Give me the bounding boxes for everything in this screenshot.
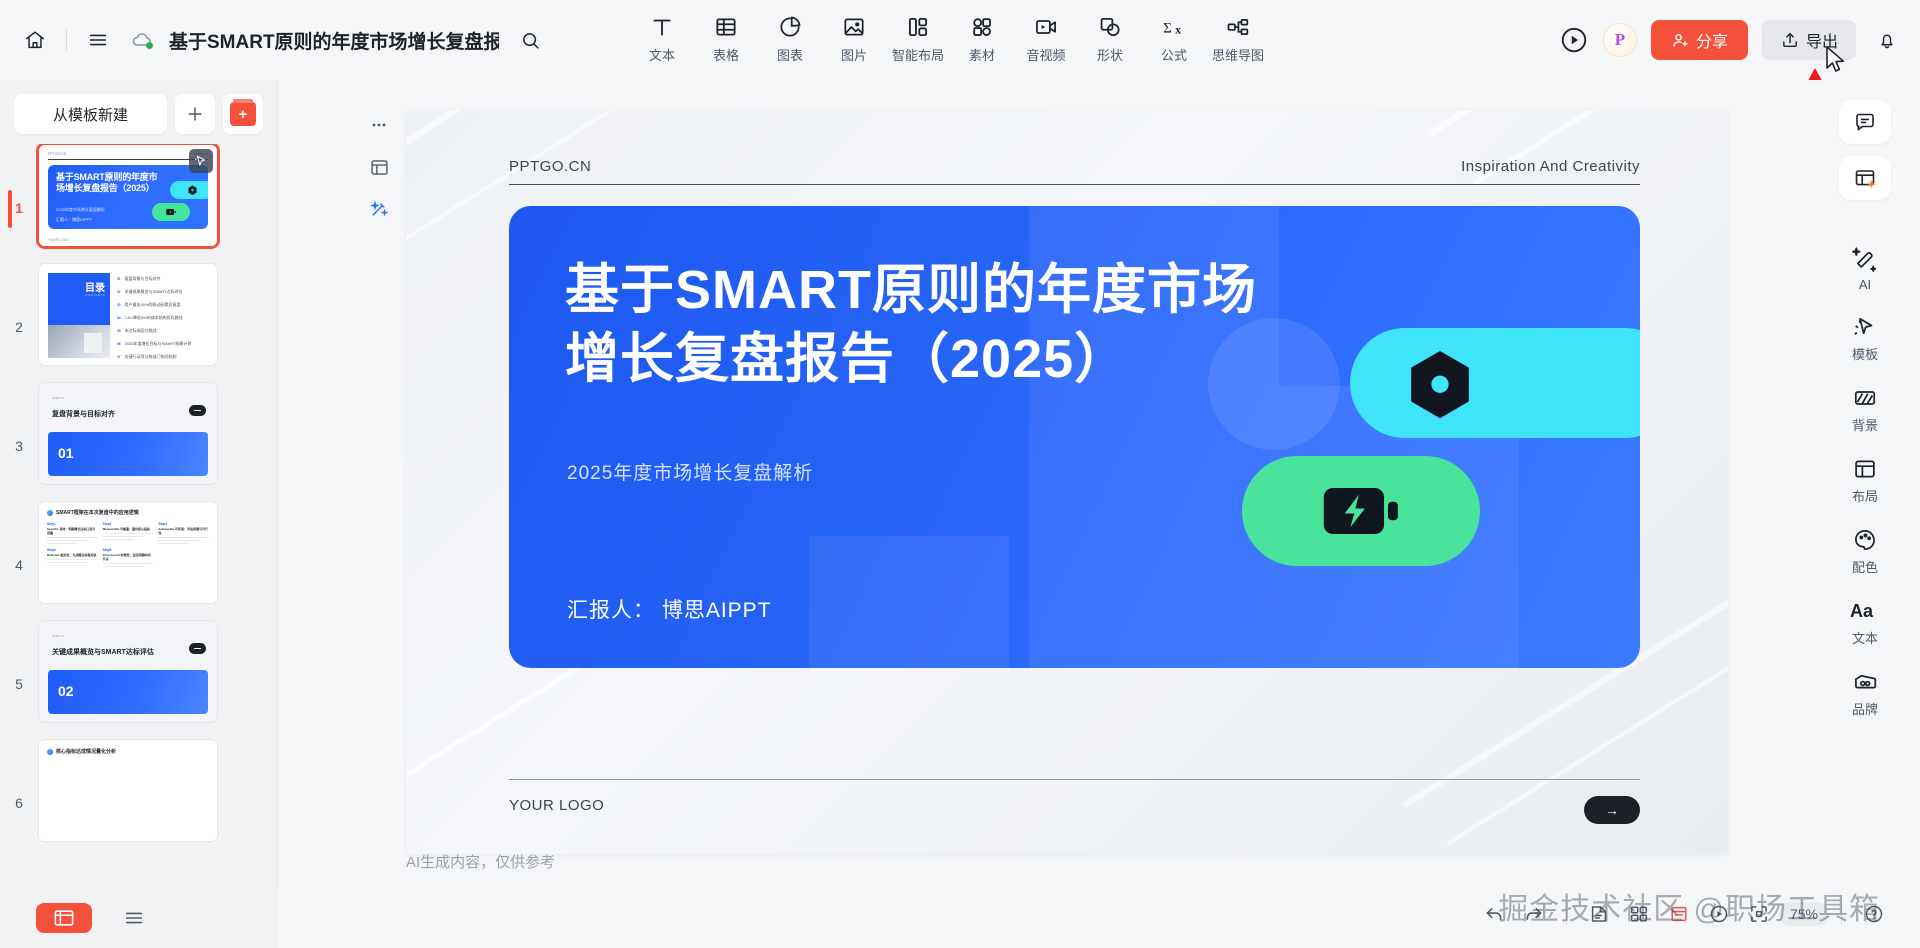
thumb-heading: SMART框架在本次复盘中的应用逻辑 [47, 509, 209, 516]
slide-thumbnail-2[interactable]: 目录 CONTENTS 01复盘背景与目标对齐 02关键成果概览与SMART达标… [38, 263, 218, 366]
entry-no: 06 [117, 342, 121, 346]
thumb-eyebrow: PART 02 [52, 634, 64, 638]
list-item: Step2Measurable 可衡量：量化核心指标 [103, 522, 154, 544]
top-bar: 基于SMART原则的年度市场增长复盘报告（... 文本 表格 图表 图片 [0, 0, 1920, 80]
list-item[interactable]: 1 PPTGO.CN Inspiration 基于SMART原则的年度市场增长复… [0, 144, 278, 263]
palette-icon [1852, 527, 1878, 553]
entry-no: 03 [117, 303, 121, 307]
rail-item-palette[interactable]: 配色 [1828, 518, 1902, 585]
slide-thumbnail-list[interactable]: 1 PPTGO.CN Inspiration 基于SMART原则的年度市场增长复… [0, 144, 278, 844]
list-item: Step4Relevant 相关性：与战略目标强关联 [47, 548, 98, 567]
list-item[interactable]: 6 核心指标达成情况量化分析 [0, 739, 278, 844]
new-from-template-button[interactable]: 从模板新建 [14, 94, 167, 134]
plus-icon [185, 104, 205, 124]
list-item: 05未达标成因与挑战 [117, 328, 209, 334]
hexagon-icon [188, 185, 197, 195]
slide-presenter[interactable]: 汇报人： 博思AIPPT [567, 594, 772, 624]
cell-step: Step1 [47, 522, 98, 526]
cloud-sync-icon [129, 27, 155, 53]
slide-footer-logo: YOUR LOGO [509, 797, 604, 814]
thumb-title: 基于SMART原则的年度市场增长复盘报告（2025） [56, 172, 161, 195]
thumb-toc-entries: 01复盘背景与目标对齐 02关键成果概览与SMART达标评估 03用户量化40%… [117, 276, 209, 366]
bullet-dot-icon [47, 510, 53, 516]
smart-layout-icon [905, 14, 931, 40]
mindmap-icon [1225, 14, 1251, 40]
background-icon [1852, 385, 1878, 411]
entry-no: 02 [117, 290, 121, 294]
cell-step: Step4 [47, 548, 98, 552]
thumb-heading: 核心指标达成情况量化分析 [47, 748, 209, 755]
ai-assistant-badge[interactable]: P [1603, 23, 1637, 57]
help-icon[interactable] [1854, 896, 1894, 932]
slide-number: 5 [0, 620, 38, 692]
slide-thumbnail-1[interactable]: PPTGO.CN Inspiration 基于SMART原则的年度市场增长复盘报… [38, 144, 218, 247]
slide-thumbnail-5[interactable]: PART 02 关键成果概览与SMART达标评估 02 [38, 620, 218, 723]
slide-number: 3 [0, 382, 38, 454]
divider [1841, 903, 1842, 925]
share-button-label: 分享 [1696, 28, 1728, 52]
sidebar-header: 从模板新建 + [0, 80, 277, 144]
thumb-title: 关键成果概览与SMART达标评估 [52, 647, 154, 657]
slide-canvas[interactable]: PPTGO.CN Inspiration And Creativity 基于SM… [406, 110, 1728, 854]
rail-item-background[interactable]: 背景 [1828, 376, 1902, 443]
sync-status-dot [146, 42, 153, 49]
thumb-section-render: PART 02 关键成果概览与SMART达标评估 02 [39, 621, 217, 722]
table-icon [713, 14, 739, 40]
tool-text[interactable]: 文本 [630, 8, 694, 68]
hexagon-icon [1408, 347, 1472, 419]
material-grid-icon [969, 14, 995, 40]
document-title[interactable]: 基于SMART原则的年度市场增长复盘报告（... [169, 27, 499, 54]
entry-text: 2026年度增长目标与SMART拆解计划 [125, 341, 192, 347]
ai-badge-label: P [1615, 30, 1625, 50]
rail-item-layout[interactable]: 布局 [1828, 447, 1902, 514]
entry-text: 用户量化40%的驱动因素及复盘 [125, 302, 181, 308]
pie-chart-icon [777, 14, 803, 40]
rail-item-background-label: 背景 [1852, 415, 1878, 434]
thumb-section-render: PART 01 复盘背景与目标对齐 01 [39, 383, 217, 484]
image-icon [841, 14, 867, 40]
rail-item-ai[interactable]: AI [1828, 238, 1902, 301]
bottom-bar: 75% [278, 880, 1920, 948]
fit-screen-icon[interactable] [1739, 896, 1779, 932]
entry-text: 未达标成因与挑战 [125, 328, 157, 334]
canvas-float-tools [366, 112, 392, 222]
share-button[interactable]: 分享 [1651, 20, 1748, 60]
sidebar-view-tabs [0, 888, 278, 948]
brand-icon [1852, 669, 1878, 695]
hexagon-pill [1350, 328, 1640, 438]
slides-sidebar: 从模板新建 + 1 PPTGO.CN Inspiration [0, 80, 278, 948]
list-item: Step1Specific 具体：明确增长目标口径与范围 [47, 522, 98, 544]
play-presentation-icon[interactable] [1559, 25, 1589, 55]
cell-text: Time-bound 时限性：设定明确时间节点 [103, 553, 154, 561]
hamburger-menu-icon[interactable] [81, 23, 115, 57]
more-dots-icon[interactable] [366, 112, 392, 138]
list-item: 062026年度增长目标与SMART拆解计划 [117, 341, 209, 347]
thumb-smart-grid: Step1Specific 具体：明确增长目标口径与范围 Step2Measur… [47, 522, 209, 567]
cell-step: Step3 [158, 522, 209, 526]
text-aa-icon: Aa [1850, 598, 1880, 624]
thumb-header-left: PPTGO.CN [48, 152, 66, 156]
rail-item-text-label: 文本 [1852, 628, 1878, 647]
formula-sigma-icon: Σx [1161, 14, 1187, 40]
svg-text:Σ: Σ [1163, 19, 1172, 36]
notes-icon[interactable] [1579, 896, 1619, 932]
slide-header-right: Inspiration And Creativity [1461, 158, 1640, 175]
comment-bubble-icon[interactable] [1839, 100, 1891, 144]
app-root: 基于SMART原则的年度市场增长复盘报告（... 文本 表格 图表 图片 [0, 0, 1920, 948]
list-item: 02关键成果概览与SMART达标评估 [117, 289, 209, 295]
list-item[interactable]: 2 目录 CONTENTS 01复盘背景与目标对齐 02关键成果概览与SMART… [0, 263, 278, 382]
animation-cursor-icon [194, 154, 208, 168]
thumb-section-number: 01 [58, 445, 74, 461]
slide-header-left: PPTGO.CN [509, 158, 591, 175]
list-item: Step5Time-bound 时限性：设定明确时间节点 [103, 548, 154, 567]
outline-list-view-icon[interactable] [106, 903, 162, 933]
list-item[interactable]: 5 PART 02 关键成果概览与SMART达标评估 02 [0, 620, 278, 739]
slide-thumbnail-4[interactable]: SMART框架在本次复盘中的应用逻辑 Step1Specific 具体：明确增长… [38, 501, 218, 604]
tool-text-label: 文本 [649, 45, 675, 64]
slide-thumbnail-view-icon[interactable] [36, 903, 92, 933]
thumb-title: 核心指标达成情况量化分析 [56, 748, 116, 755]
export-button[interactable]: 导出 [1762, 20, 1856, 60]
tool-smart-layout[interactable]: 智能布局 [886, 8, 950, 68]
thumb-band: 01 [48, 432, 208, 476]
slide-number: 1 [0, 144, 38, 216]
rail-item-text[interactable]: Aa 文本 [1828, 589, 1902, 656]
right-rail: AI 模板 背景 布局 配色 Aa 文本 品牌 [1810, 80, 1920, 948]
ai-slide-button[interactable]: + [223, 94, 263, 134]
canvas-area: PPTGO.CN Inspiration And Creativity 基于SM… [278, 80, 1810, 880]
tool-table-label: 表格 [713, 45, 739, 64]
thumb-toc-render: 目录 CONTENTS 01复盘背景与目标对齐 02关键成果概览与SMART达标… [39, 264, 217, 365]
tool-image[interactable]: 图片 [822, 8, 886, 68]
delete-slide-icon[interactable] [1659, 896, 1699, 932]
thumb-hero: 基于SMART原则的年度市场增长复盘报告（2025） 2025年度市场增长复盘解… [48, 165, 208, 229]
rail-item-palette-label: 配色 [1852, 557, 1878, 576]
notification-bell-icon[interactable] [1870, 23, 1904, 57]
cell-step: Step2 [103, 522, 154, 526]
slide-subtitle[interactable]: 2025年度市场增长复盘解析 [567, 458, 813, 485]
entry-no: 01 [117, 277, 121, 281]
entry-no: 05 [117, 329, 121, 333]
tool-chart[interactable]: 图表 [758, 8, 822, 68]
list-item[interactable]: 4 SMART框架在本次复盘中的应用逻辑 Step1Specific 具体：明确… [0, 501, 278, 620]
thumb-toc-title: 目录 [85, 279, 105, 294]
share-user-icon [1671, 31, 1690, 50]
ai-sparkle-icon [1852, 247, 1878, 273]
thumb-subtitle: 2025年度市场增长复盘解析 [56, 207, 105, 213]
rail-item-brand-label: 品牌 [1852, 699, 1878, 718]
thumb-smart-render: SMART框架在本次复盘中的应用逻辑 Step1Specific 具体：明确增长… [39, 502, 217, 603]
media-video-icon [1033, 14, 1059, 40]
entry-text: 复盘背景与目标对齐 [125, 276, 161, 282]
tool-material-label: 素材 [969, 45, 995, 64]
tool-media[interactable]: 音视频 [1014, 8, 1078, 68]
slide-footer-rule [509, 779, 1640, 780]
thumb-presenter: 汇报人：博思AIPPT [56, 217, 92, 223]
top-bar-right: P 分享 导出 [1559, 0, 1904, 80]
thumb-band: 02 [48, 670, 208, 714]
slide-number: 2 [0, 263, 38, 335]
ai-layout-icon[interactable] [1839, 156, 1891, 200]
slide-title[interactable]: 基于SMART原则的年度市场增长复盘报告（2025） [565, 256, 1265, 394]
rail-item-template-label: 模板 [1852, 344, 1878, 363]
thumb-toc-title-en: CONTENTS [85, 293, 105, 297]
slide-number: 4 [0, 501, 38, 573]
tool-formula[interactable]: Σx 公式 [1142, 8, 1206, 68]
tool-media-label: 音视频 [1026, 45, 1065, 64]
tool-mindmap-label: 思维导图 [1212, 45, 1264, 64]
list-item: 01复盘背景与目标对齐 [117, 276, 209, 282]
cell-text: Achievable 可实现：评估资源与可行性 [158, 527, 209, 535]
thumb-pill-decor [189, 405, 206, 416]
list-item[interactable]: 3 PART 01 复盘背景与目标对齐 01 [0, 382, 278, 501]
cell-step: Step5 [103, 548, 154, 552]
divider [1566, 903, 1567, 925]
thumb-title: SMART框架在本次复盘中的应用逻辑 [56, 509, 139, 516]
search-icon[interactable] [513, 23, 547, 57]
tool-mindmap[interactable]: 思维导图 [1206, 8, 1270, 68]
tool-smart-layout-label: 智能布局 [892, 45, 944, 64]
list-item: 04CAC降低5%的成本结构优化路径 [117, 315, 209, 321]
battery-pill [1242, 456, 1480, 566]
rail-item-ai-label: AI [1859, 277, 1871, 292]
thumb-battery-pill [152, 203, 190, 221]
rail-item-template[interactable]: 模板 [1828, 305, 1902, 372]
slide-header: PPTGO.CN Inspiration And Creativity [509, 158, 1728, 175]
shape-icon [1097, 14, 1123, 40]
thumb-header: PPTGO.CN Inspiration [48, 152, 208, 160]
list-item: 03用户量化40%的驱动因素及复盘 [117, 302, 209, 308]
slide-header-rule [509, 184, 1640, 185]
slide-hero-card[interactable]: 基于SMART原则的年度市场增长复盘报告（2025） 2025年度市场增长复盘解… [509, 206, 1640, 668]
battery-charge-icon [166, 208, 176, 216]
svg-text:Aa: Aa [1850, 601, 1874, 621]
tool-formula-label: 公式 [1161, 45, 1187, 64]
magic-wand-icon[interactable] [366, 196, 392, 222]
thumb-toc-image [48, 325, 110, 358]
thumb-section-number: 02 [58, 683, 74, 699]
rail-item-brand[interactable]: 品牌 [1828, 660, 1902, 727]
cell-text: Relevant 相关性：与战略目标强关联 [47, 553, 98, 557]
text-icon [649, 14, 675, 40]
tool-table[interactable]: 表格 [694, 8, 758, 68]
rail-item-layout-label: 布局 [1852, 486, 1878, 505]
tool-chart-label: 图表 [777, 45, 803, 64]
export-button-label: 导出 [1806, 28, 1838, 52]
tool-image-label: 图片 [841, 45, 867, 64]
svg-text:x: x [1175, 23, 1181, 37]
thumb-footer: YOUR LOGO [48, 238, 69, 242]
thumb-title: 复盘背景与目标对齐 [52, 409, 115, 419]
tool-shape-label: 形状 [1097, 45, 1123, 64]
export-upload-icon [1780, 30, 1800, 50]
layout-panel-icon[interactable] [366, 154, 392, 180]
tool-shape[interactable]: 形状 [1078, 8, 1142, 68]
slide-thumbnail-3[interactable]: PART 01 复盘背景与目标对齐 01 [38, 382, 218, 485]
list-item: Step3Achievable 可实现：评估资源与可行性 [158, 522, 209, 544]
grid-view-icon[interactable] [1619, 896, 1659, 932]
insert-toolbar: 文本 表格 图表 图片 智能布局 素材 [630, 8, 1270, 68]
slide-animation-badge[interactable] [189, 149, 213, 173]
redo-icon[interactable] [1514, 896, 1554, 932]
ai-slide-icon: + [230, 102, 256, 126]
thumb-eyebrow: PART 01 [52, 396, 64, 400]
divider [66, 29, 67, 51]
entry-text: 关键行动项与跨部门协同机制 [125, 354, 177, 360]
layout-icon [1852, 456, 1878, 482]
slide-thumbnail-6[interactable]: 核心指标达成情况量化分析 [38, 739, 218, 842]
home-icon[interactable] [18, 23, 52, 57]
entry-text: 关键成果概览与SMART达标评估 [125, 289, 183, 295]
add-slide-button[interactable] [175, 94, 215, 134]
entry-no: 07 [117, 355, 121, 359]
cell-text: Measurable 可衡量：量化核心指标 [103, 527, 154, 531]
entry-text: CAC降低5%的成本结构优化路径 [125, 315, 183, 321]
bullet-dot-icon [47, 749, 53, 755]
slide-next-button[interactable]: → [1584, 796, 1640, 824]
tool-material[interactable]: 素材 [950, 8, 1014, 68]
thumb-toc-panel: 目录 CONTENTS [48, 273, 110, 325]
undo-icon[interactable] [1474, 896, 1514, 932]
thumb-hexagon-pill [170, 181, 208, 199]
ai-generated-note: AI生成内容，仅供参考 [406, 851, 555, 872]
slide-number: 6 [0, 739, 38, 811]
list-item: 07关键行动项与跨部门协同机制 [117, 354, 209, 360]
battery-charge-icon [1322, 485, 1400, 537]
entry-no: 04 [117, 316, 121, 320]
zoom-level[interactable]: 75% [1779, 902, 1829, 926]
top-bar-left: 基于SMART原则的年度市场增长复盘报告（... [0, 23, 547, 57]
present-icon[interactable] [1699, 896, 1739, 932]
thumb-core-render: 核心指标达成情况量化分析 [39, 740, 217, 841]
cell-text: Specific 具体：明确增长目标口径与范围 [47, 527, 98, 535]
thumb-pill-decor [189, 643, 206, 654]
template-icon [1852, 314, 1878, 340]
